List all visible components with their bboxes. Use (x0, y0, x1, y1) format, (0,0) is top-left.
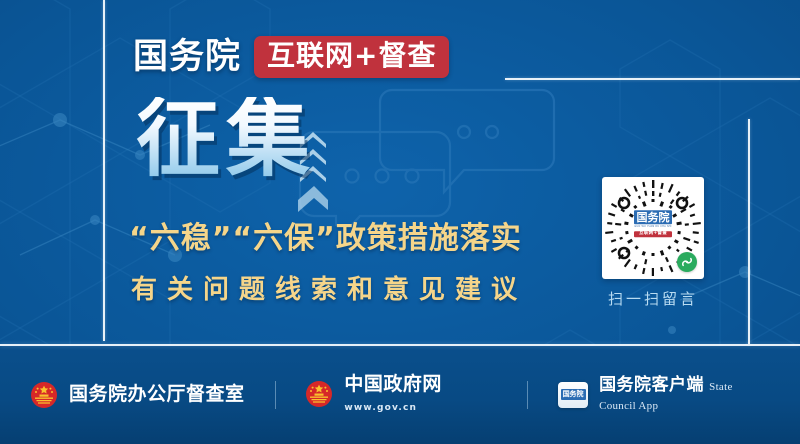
footer: 国务院办公厅督查室 中国政府网 www.gov.cn (0, 345, 800, 444)
qr-code-block[interactable]: 国务院 GUO WU YUAN DU CHA SHI 互联网+督查 扫一扫留言 (602, 177, 704, 309)
app-icon-label: 国务院 (561, 389, 586, 400)
campaign-badge: 互联网+督查 (254, 36, 449, 78)
header: 国务院 互联网+督查 (133, 36, 449, 78)
poster-canvas: 国务院 互联网+督查 征集 “六稳”“六保”政策措施落实 有关问题线索和意见建议 (0, 0, 800, 444)
qr-caption: 扫一扫留言 (602, 288, 704, 309)
wechat-miniprogram-icon (677, 252, 697, 272)
speech-bubbles-icon (296, 86, 566, 226)
footer-primary: 国务院客户端 (599, 375, 704, 395)
qr-logo-pinyin: GUO WU YUAN DU CHA SHI (634, 225, 672, 230)
page-title: 征集 (136, 97, 316, 181)
organization-title: 国务院 (133, 40, 241, 75)
footer-primary: 中国政府网 (344, 373, 442, 395)
qr-code-image[interactable]: 国务院 GUO WU YUAN DU CHA SHI 互联网+督查 (602, 177, 704, 279)
footer-text: 中国政府网 www.gov.cn (344, 374, 497, 414)
divider-vertical-left (103, 0, 105, 341)
subtitle-line-1: “六稳”“六保”政策措施落实 (129, 224, 522, 254)
qr-logo-badge: 互联网+督查 (634, 231, 672, 238)
footer-item-state-council-app[interactable]: 国务院 国务院客户端 State Council App (528, 376, 800, 414)
state-council-app-icon: 国务院 (558, 382, 588, 408)
qr-logo-title: 国务院 (634, 210, 672, 225)
subtitle-line-2: 有关问题线索和意见建议 (131, 277, 527, 303)
national-emblem-icon (305, 380, 333, 408)
footer-item-state-council-office[interactable]: 国务院办公厅督查室 (0, 381, 275, 409)
divider-horizontal-top (505, 78, 800, 80)
footer-primary: 国务院办公厅督查室 (69, 383, 245, 405)
footer-item-china-gov-site[interactable]: 中国政府网 www.gov.cn (275, 374, 527, 414)
footer-text: 国务院办公厅督查室 (69, 384, 245, 406)
qr-center-logo: 国务院 GUO WU YUAN DU CHA SHI 互联网+督查 (634, 210, 672, 238)
qr-caption-text: 扫一扫留言 (608, 288, 698, 309)
national-emblem-icon (30, 381, 58, 409)
divider-vertical-right (748, 119, 750, 345)
footer-text: 国务院客户端 State Council App (599, 376, 770, 414)
footer-secondary: www.gov.cn (344, 403, 417, 413)
